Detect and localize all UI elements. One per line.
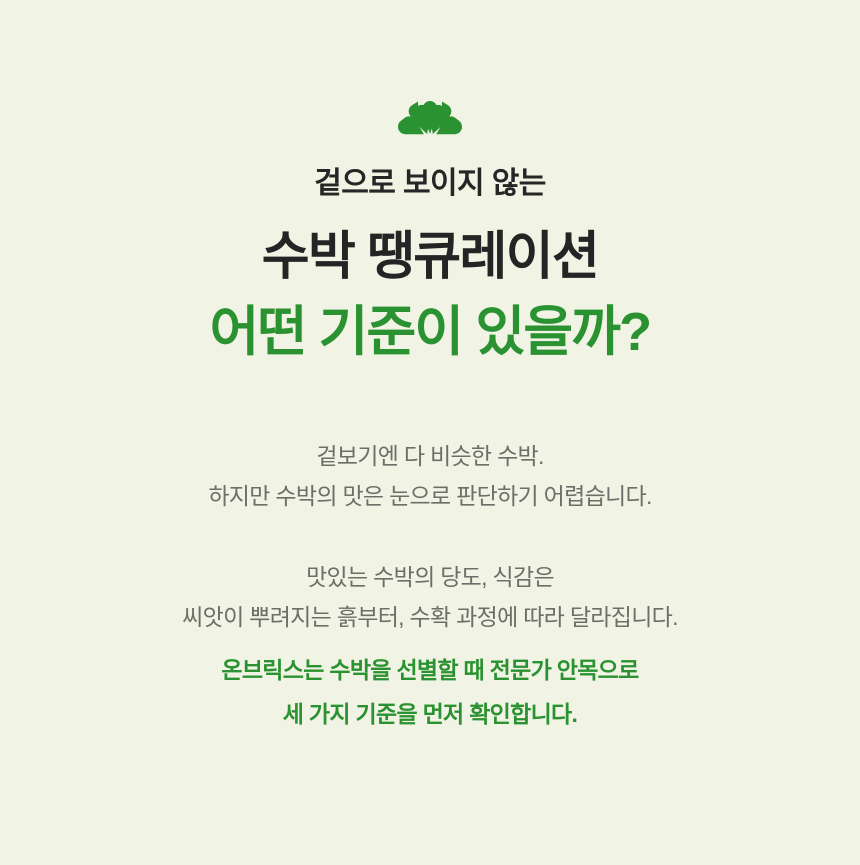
page-title: 수박 땡큐레이션 — [262, 227, 599, 287]
fan-petals-logo-icon — [398, 101, 462, 135]
accent-line: 온브릭스는 수박을 선별할 때 전문가 안목으로 — [221, 648, 638, 693]
accent-line: 세 가지 기준을 먼저 확인합니다. — [283, 692, 577, 737]
body-line: 맛있는 수박의 당도, 식감은 — [306, 558, 554, 598]
page-title-accent: 어떤 기준이 있을까? — [210, 301, 651, 364]
paragraph-2: 맛있는 수박의 당도, 식감은 씨앗이 뿌려지는 흙부터, 수확 과정에 따라 … — [182, 558, 678, 737]
brand-logo — [395, 99, 465, 137]
promo-page: 겉으로 보이지 않는 수박 땡큐레이션 어떤 기준이 있을까? 겉보기엔 다 비… — [0, 0, 860, 865]
headline-block: 겉으로 보이지 않는 수박 땡큐레이션 어떤 기준이 있을까? — [210, 166, 651, 363]
accent-statement: 온브릭스는 수박을 선별할 때 전문가 안목으로 세 가지 기준을 먼저 확인합… — [221, 648, 638, 738]
paragraph-1: 겉보기엔 다 비슷한 수박. 하지만 수박의 맛은 눈으로 판단하기 어렵습니다… — [208, 437, 651, 516]
body-line: 씨앗이 뿌려지는 흙부터, 수확 과정에 따라 달라집니다. — [182, 598, 678, 638]
body-line: 겉보기엔 다 비슷한 수박. — [316, 437, 543, 477]
body-line: 하지만 수박의 맛은 눈으로 판단하기 어렵습니다. — [208, 477, 651, 517]
body-block: 겉보기엔 다 비슷한 수박. 하지만 수박의 맛은 눈으로 판단하기 어렵습니다… — [182, 437, 678, 737]
eyebrow-text: 겉으로 보이지 않는 — [314, 166, 545, 201]
